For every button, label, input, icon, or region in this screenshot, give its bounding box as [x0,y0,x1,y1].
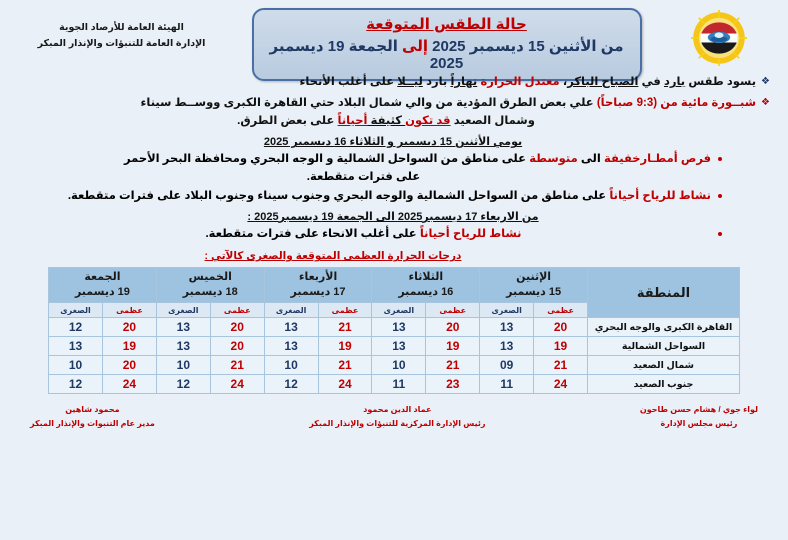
temperatures-caption: درجات الحرارة العظمى المتوقعة والصغرى كا… [16,250,650,262]
t: أحياناً [609,190,639,202]
max-cell: 24 [102,375,156,394]
table-head: المنطقة الإثنين 15 ديسمبر الثلاثاء 16 دي… [49,268,740,318]
day-name: الخميس [158,270,263,285]
t: كثيفة [367,115,405,127]
max-cell: 20 [102,356,156,375]
subheader-max-3: عظمى [210,303,264,318]
section1-heading: يومي الأثنين 15 ديسمبر و الثلاثاء 16 ديس… [16,135,770,148]
t: أحياناً [338,115,368,127]
diamond-bullet-icon: ❖ [761,95,770,111]
min-cell: 13 [480,337,534,356]
t: يسود طقس [685,76,756,88]
t: الصباح الباكر [567,76,638,88]
subheader-min-4: الصغرى [49,303,103,318]
max-cell: 19 [426,337,480,356]
min-cell: 09 [480,356,534,375]
column-header-region: المنطقة [588,268,740,318]
organization-name: الهيئة العامة للأرصاد الجوية الإدارة الع… [14,8,229,51]
t: معتدل الحرارة [480,76,559,88]
min-cell: 12 [156,375,210,394]
table-row: جنوب الصعيد 24 11 23 11 24 12 24 12 24 1… [49,375,740,394]
min-cell: 11 [480,375,534,394]
max-cell: 21 [210,356,264,375]
min-cell: 10 [264,356,318,375]
region-cell: جنوب الصعيد [588,375,740,394]
max-cell: 23 [426,375,480,394]
max-cell: 20 [210,337,264,356]
signature-block-3: لواء جوي / هشام حسن طاحون رئيس مجلس الإد… [640,403,758,430]
date-from: من الأثنين 15 ديسمبر 2025 [432,38,623,55]
min-cell: 13 [264,318,318,337]
day-name: الأربعاء [266,270,371,285]
signature-role: مدير عام التنبوات والإنذار المبكر [30,417,155,431]
bulletin-body: ❖ يسود طقس بارد في الصباح الباكر، معتدل … [0,72,788,262]
day-date: 16 ديسمبر [373,285,478,300]
weather-bulletin-page: الهيئة العامة للأرصاد الجوية الإدارة الع… [0,0,788,540]
bullet-fog-warning: ❖ شبــورة مائية من (9:3 صباحاً) علي بعض … [16,95,770,131]
title-banner: حالة الطقس المتوقعة من الأثنين 15 ديسمبر… [252,8,642,81]
t: قد تكون [405,115,450,127]
dot-bullet-icon [718,232,722,236]
min-cell: 12 [49,318,103,337]
min-cell: 10 [49,356,103,375]
max-cell: 24 [318,375,372,394]
bullet-general-weather-text: يسود طقس بارد في الصباح الباكر، معتدل ال… [16,74,756,92]
date-range: من الأثنين 15 ديسمبر 2025 إلى الجمعة 19 … [260,37,634,72]
min-cell: 13 [372,318,426,337]
max-cell: 20 [534,318,588,337]
subheader-min-1: الصغرى [372,303,426,318]
dot-bullet-icon [718,194,722,198]
bullet-wind-activity-2-text: نشاط للرياح أحياناً على أغلب الانحاء على… [16,226,711,243]
rain-line-2: على فترات متقطعة. [16,169,711,186]
max-cell: 21 [318,318,372,337]
table-header-row-days: المنطقة الإثنين 15 ديسمبر الثلاثاء 16 دي… [49,268,740,303]
table-body: القاهرة الكبرى والوجه البحري 20 13 20 13… [49,318,740,394]
t: الى [578,153,604,165]
t: على أغلب الأنحاء [300,76,398,88]
day-name: الإثنين [481,270,586,285]
signature-block-2: عماد الدين محمود رئيس الإدارة المركزية ل… [309,403,485,430]
day-date: 17 ديسمبر [266,285,371,300]
t: خفيفة [604,153,641,165]
region-cell: شمال الصعيد [588,356,740,375]
t: أحياناً [420,228,450,240]
day-date: 18 ديسمبر [158,285,263,300]
diamond-bullet-icon: ❖ [761,74,770,90]
day-name: الجمعة [50,270,155,285]
min-cell: 13 [264,337,318,356]
signature-name: لواء جوي / هشام حسن طاحون [640,403,758,417]
section2-heading: من الاربعاء 17 ديسمبر2025 الى الجمعة 19 … [16,210,770,223]
t: علي بعض الطرق المؤدية من والي شمال البلا… [141,97,597,109]
min-cell: 13 [156,337,210,356]
column-header-day-3: الخميس 18 ديسمبر [156,268,264,303]
table-row: القاهرة الكبرى والوجه البحري 20 13 20 13… [49,318,740,337]
column-header-day-2: الأربعاء 17 ديسمبر [264,268,372,303]
region-cell: السواحل الشمالية [588,337,740,356]
min-cell: 10 [372,356,426,375]
region-cell: القاهرة الكبرى والوجه البحري [588,318,740,337]
day-name: الثلاثاء [373,270,478,285]
day-date: 15 ديسمبر [481,285,586,300]
bullet-wind-activity-2: نشاط للرياح أحياناً على أغلب الانحاء على… [16,226,770,243]
t: شبــورة مائية من (9:3 صباحاً) [597,97,756,109]
t: على مناطق من السواحل الشمالية و الوجه ال… [124,153,529,165]
document-footer: محمود شاهين مدير عام التنبوات والإنذار ا… [0,394,788,430]
bullet-general-weather: ❖ يسود طقس بارد في الصباح الباكر، معتدل … [16,74,770,92]
signature-role: رئيس الإدارة المركزية للتنبؤات والإنذار … [309,417,485,431]
day-date: 19 ديسمبر [50,285,155,300]
fog-line-1: شبــورة مائية من (9:3 صباحاً) علي بعض ال… [141,97,757,109]
t: بارد [426,76,447,88]
subheader-min-2: الصغرى [264,303,318,318]
min-cell: 12 [49,375,103,394]
rain-line-1: فرص أمطـارخفيفة الى متوسطة على مناطق من … [124,153,711,165]
signature-name: عماد الدين محمود [309,403,485,417]
date-connector: إلى [402,38,428,55]
bullet-wind-activity-1: نشاط للرياح أحياناً على مناطق من السواحل… [16,188,770,205]
column-header-day-1: الثلاثاء 16 ديسمبر [372,268,480,303]
min-cell: 10 [156,356,210,375]
min-cell: 12 [264,375,318,394]
min-cell: 13 [480,318,534,337]
max-cell: 19 [102,337,156,356]
max-cell: 20 [102,318,156,337]
table-row: السواحل الشمالية 19 13 19 13 19 13 20 13… [49,337,740,356]
max-cell: 21 [426,356,480,375]
dot-bullet-icon [718,157,722,161]
page-title: حالة الطقس المتوقعة [260,15,634,33]
subheader-max-1: عظمى [426,303,480,318]
column-header-day-4: الجمعة 19 ديسمبر [49,268,157,303]
t: نهاراً [450,76,477,88]
max-cell: 20 [210,318,264,337]
egypt-meteorological-authority-logo-icon [691,10,747,66]
t: في [638,76,664,88]
t: على مناطق من السواحل الشمالية والوجه الب… [68,190,609,202]
max-cell: 21 [318,356,372,375]
max-cell: 19 [318,337,372,356]
bullet-rain-chances: فرص أمطـارخفيفة الى متوسطة على مناطق من … [16,151,770,186]
min-cell: 13 [156,318,210,337]
signature-block-1: محمود شاهين مدير عام التنبوات والإنذار ا… [30,403,155,430]
t: نشاط للرياح [642,190,711,202]
max-cell: 20 [426,318,480,337]
t: ليــلا [397,76,423,88]
t: فرص أمطـار [641,153,711,165]
temperature-table: المنطقة الإثنين 15 ديسمبر الثلاثاء 16 دي… [48,267,740,394]
fog-line-2: وشمال الصعيد قد تكون كثيفة أحياناً على ب… [16,113,756,131]
t: بارد [664,76,685,88]
subheader-max-0: عظمى [534,303,588,318]
bullet-wind-activity-1-text: نشاط للرياح أحياناً على مناطق من السواحل… [16,188,711,205]
temperature-table-container: المنطقة الإثنين 15 ديسمبر الثلاثاء 16 دي… [0,267,788,394]
max-cell: 24 [210,375,264,394]
t: متوسطة [529,153,578,165]
signature-name: محمود شاهين [30,403,155,417]
table-row: شمال الصعيد 21 09 21 10 21 10 21 10 20 1… [49,356,740,375]
document-header: الهيئة العامة للأرصاد الجوية الإدارة الع… [0,0,788,72]
t: وشمال الصعيد [451,115,535,127]
column-header-day-0: الإثنين 15 ديسمبر [480,268,588,303]
min-cell: 11 [372,375,426,394]
min-cell: 13 [372,337,426,356]
signature-role: رئيس مجلس الإدارة [640,417,758,431]
bullet-rain-chances-text: فرص أمطـارخفيفة الى متوسطة على مناطق من … [16,151,711,186]
t: نشاط للرياح [453,228,522,240]
t: على بعض الطرق. [237,115,337,127]
max-cell: 24 [534,375,588,394]
subheader-min-3: الصغرى [156,303,210,318]
max-cell: 21 [534,356,588,375]
logo-container [664,8,774,68]
org-line-1: الهيئة العامة للأرصاد الجوية [14,20,229,36]
bullet-fog-warning-text: شبــورة مائية من (9:3 صباحاً) علي بعض ال… [16,95,756,131]
min-cell: 13 [49,337,103,356]
subheader-max-4: عظمى [102,303,156,318]
subheader-max-2: عظمى [318,303,372,318]
max-cell: 19 [534,337,588,356]
org-line-2: الإدارة العامة للتنبؤات والإنذار المبكر [14,36,229,52]
t: على أغلب الانحاء على فترات متقطعة. [205,228,419,240]
subheader-min-0: الصغرى [480,303,534,318]
